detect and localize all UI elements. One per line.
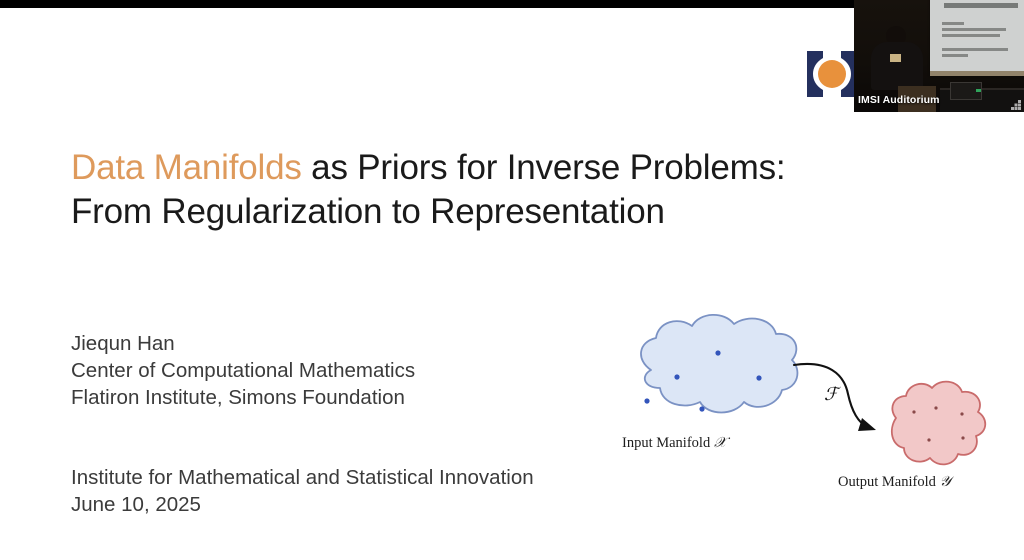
projected-author-line xyxy=(942,22,964,25)
author-institution: Flatiron Institute, Simons Foundation xyxy=(71,384,631,411)
output-manifold-caption-text: Output Manifold xyxy=(838,474,936,490)
webcam-overlay[interactable]: IMSI Auditorium xyxy=(854,0,1024,112)
slide-title: Data Manifolds as Priors for Inverse Pro… xyxy=(71,146,931,234)
projected-screen-bottom-bar xyxy=(930,71,1024,76)
title-line-2: From Regularization to Representation xyxy=(71,190,931,234)
speaker-body xyxy=(871,42,923,90)
author-block: Jiequn Han Center of Computational Mathe… xyxy=(71,330,631,411)
author-department: Center of Computational Mathematics xyxy=(71,357,631,384)
input-manifold-caption: Input Manifold 𝒳 xyxy=(622,435,726,452)
title-line-1: Data Manifolds as Priors for Inverse Pro… xyxy=(71,146,931,190)
venue-date: June 10, 2025 xyxy=(71,491,671,518)
projected-department-line xyxy=(942,28,1006,31)
map-label: ℱ xyxy=(824,384,841,405)
output-manifold-blob xyxy=(892,382,985,465)
output-manifold-caption: Output Manifold 𝒴 xyxy=(838,474,951,491)
title-accent-phrase: Data Manifolds xyxy=(71,148,302,187)
venue-event: Institute for Mathematical and Statistic… xyxy=(71,464,671,491)
projected-screen xyxy=(930,0,1024,76)
venue-block: Institute for Mathematical and Statistic… xyxy=(71,464,671,518)
speaker-name-badge xyxy=(890,54,901,62)
imsi-logo xyxy=(806,50,858,98)
input-manifold-caption-text: Input Manifold xyxy=(622,435,710,451)
webcam-room-label: IMSI Auditorium xyxy=(858,94,940,106)
input-manifold-blob xyxy=(641,315,797,413)
title-line-1-rest: as Priors for Inverse Problems: xyxy=(302,148,786,187)
output-manifold-symbol: 𝒴 xyxy=(940,474,951,490)
projected-slide-title-line xyxy=(944,3,1018,8)
author-name: Jiequn Han xyxy=(71,330,631,357)
input-manifold-symbol: 𝒳 xyxy=(714,435,726,451)
projected-venue-line xyxy=(942,48,1008,51)
manifold-diagram: ℱ xyxy=(596,308,1016,518)
resize-handle-icon[interactable] xyxy=(1011,100,1022,111)
equipment-led-icon xyxy=(976,89,981,92)
projected-date-line xyxy=(942,54,968,57)
projected-institution-line xyxy=(942,34,1000,37)
